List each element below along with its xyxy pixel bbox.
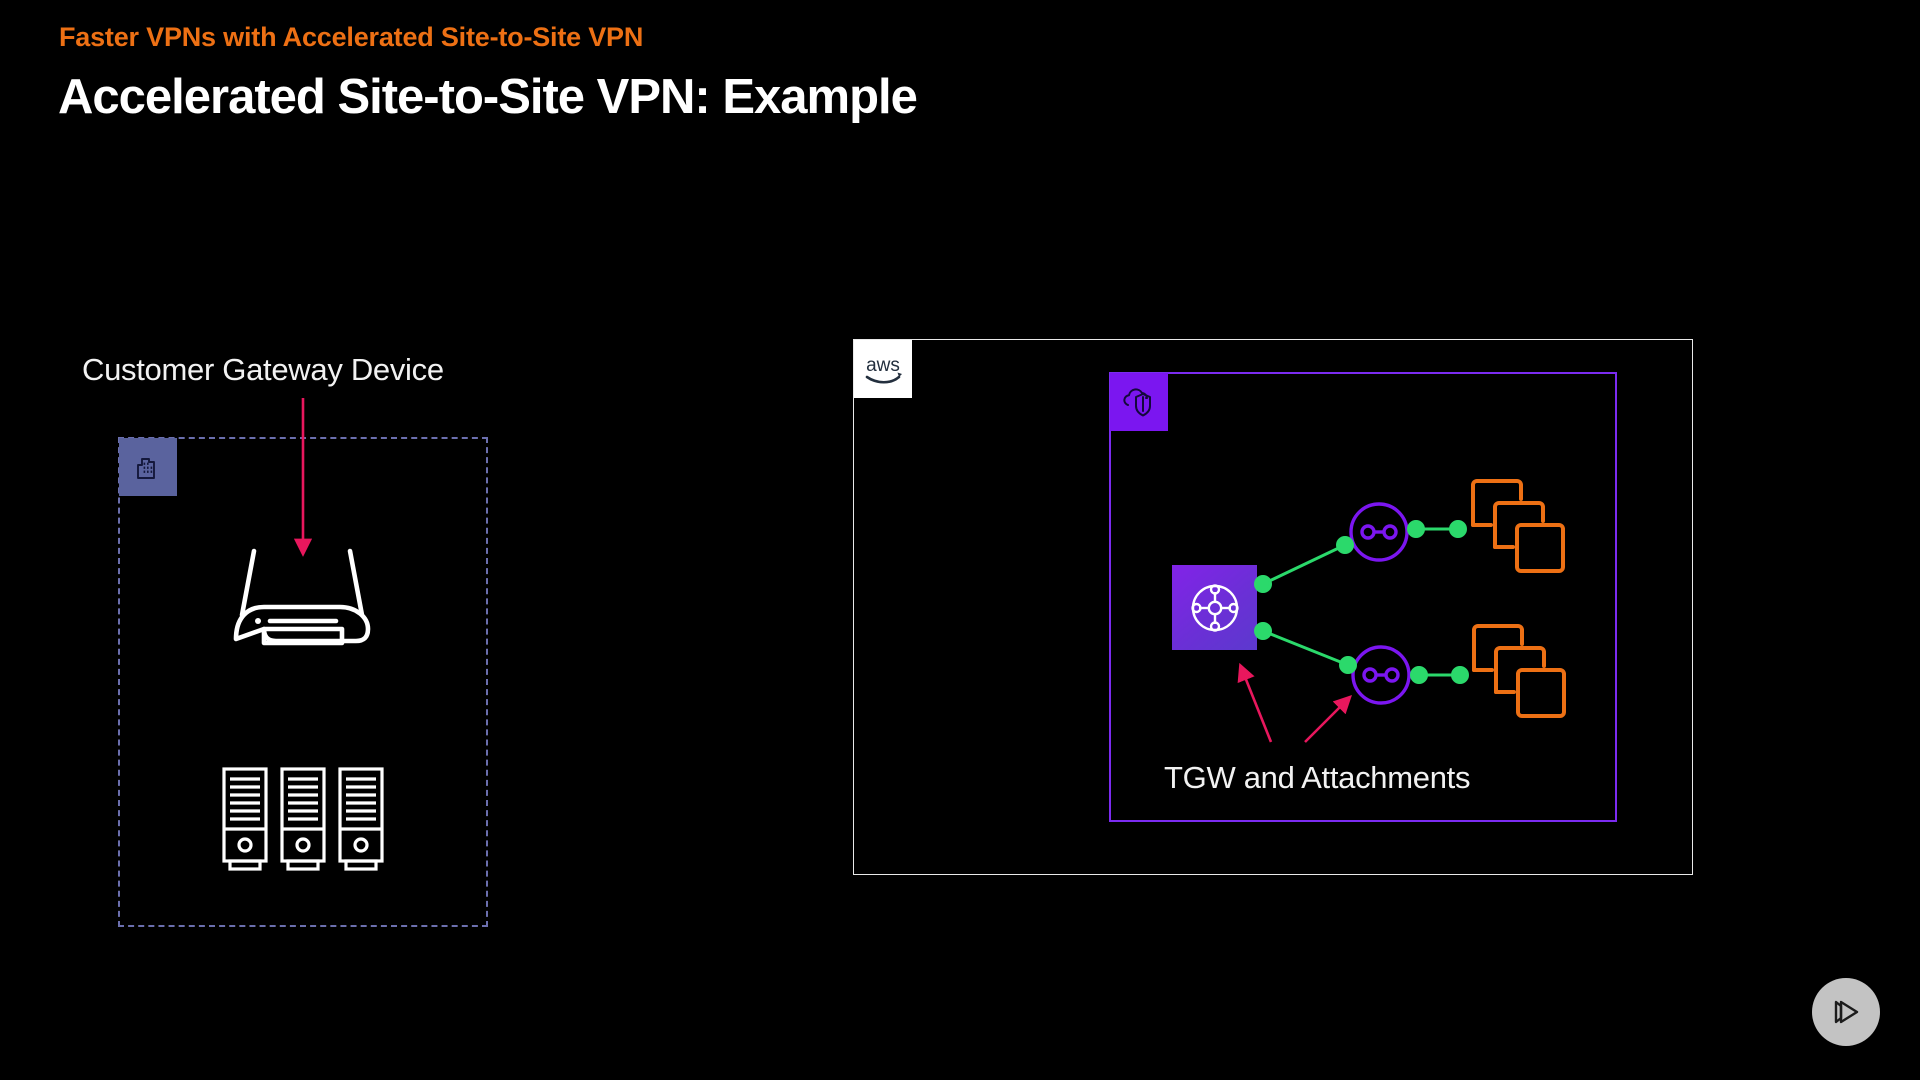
page-title: Accelerated Site-to-Site VPN: Example (58, 69, 917, 125)
slide-canvas: Faster VPNs with Accelerated Site-to-Sit… (0, 0, 1920, 1080)
vpc-cloud-shield-icon (1110, 373, 1168, 431)
tgw-attachment-icon (1347, 500, 1411, 564)
tgw-attachment-icon (1349, 643, 1413, 707)
play-next-button[interactable] (1812, 978, 1880, 1046)
server-tower-icon (218, 765, 388, 875)
customer-gateway-label: Customer Gateway Device (82, 352, 444, 388)
svg-text:aws: aws (866, 355, 900, 376)
slide-eyebrow: Faster VPNs with Accelerated Site-to-Sit… (59, 22, 643, 53)
subnet-stack-icon (1469, 477, 1567, 577)
subnet-stack-icon (1470, 622, 1568, 722)
double-play-icon (1828, 994, 1864, 1030)
wifi-router-icon (218, 545, 386, 655)
tgw-attachments-label: TGW and Attachments (1164, 760, 1470, 796)
transit-gateway-hub-icon (1172, 565, 1257, 650)
aws-logo: aws (854, 340, 912, 398)
corporate-building-icon (119, 438, 177, 496)
